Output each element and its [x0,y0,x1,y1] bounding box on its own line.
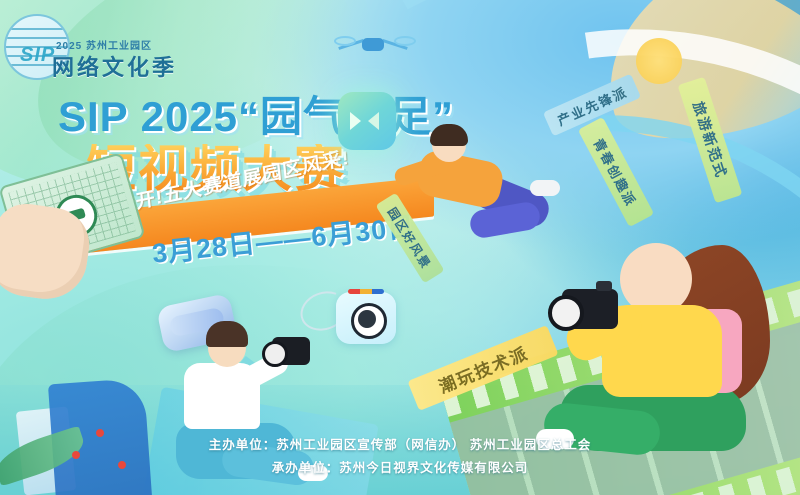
event-logo: SIP 2025 苏州工业园区 网络文化季 [4,14,204,94]
video-play-icon [338,92,396,150]
camera-icon [336,292,396,344]
credits-organizer: 主办单位：苏州工业园区宣传部（网信办） 苏州工业园区总工会 [0,434,800,458]
credits-block: 主办单位：苏州工业园区宣传部（网信办） 苏州工业园区总工会 承办单位：苏州今日视… [0,434,800,482]
drone-icon [338,26,408,66]
credits-host: 承办单位：苏州今日视界文化传媒有限公司 [0,457,800,481]
person-photographer-right [550,197,770,447]
logo-sip-mark: SIP [20,44,55,67]
camera-lens [351,303,387,339]
dslr-camera-icon [562,289,618,329]
poster-canvas: SIP 2025 苏州工业园区 网络文化季 SIP 2025“园气十足” 短视频… [0,0,800,495]
dslr-camera-icon-left [272,337,310,365]
camera-color-strip [348,289,384,294]
logo-line-2: 网络文化季 [52,50,177,82]
person-jumping [412,128,552,268]
